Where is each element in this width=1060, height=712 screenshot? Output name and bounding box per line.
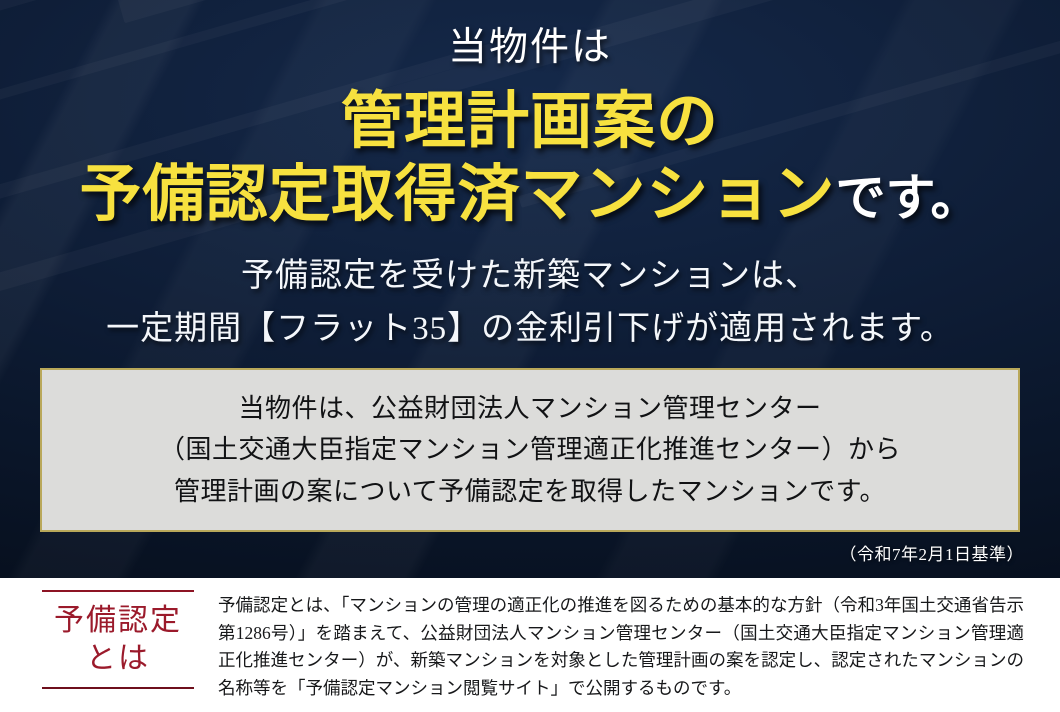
subcopy-line-2: 一定期間【フラット35】の金利引下げが適用されます。 [0,303,1060,356]
definition-fine-print: 予備認定とは、「マンションの管理の適正化の推進を図るための基本的な方針（令和3年… [218,592,1024,703]
certification-panel: 当物件は、公益財団法人マンション管理センター （国土交通大臣指定マンション管理適… [40,368,1020,532]
promo-poster: 当物件は 管理計画案の 予備認定取得済マンションです。 予備認定を受けた新築マン… [0,0,1060,712]
headline-line-2-main: 予備認定取得済マンション [79,161,835,229]
hero-subcopy: 予備認定を受けた新築マンションは、 一定期間【フラット35】の金利引下げが適用さ… [0,250,1060,357]
definition-tag-line-2: とは [42,640,194,678]
definition-tag-line-1: 予備認定 [42,602,194,640]
hero-eyebrow: 当物件は [0,27,1060,70]
definition-tag: 予備認定 とは [42,590,194,689]
panel-line-3: 管理計画の案について予備認定を取得したマンションです。 [174,471,886,512]
footer-section: 予備認定 とは 予備認定とは、「マンションの管理の適正化の推進を図るための基本的… [0,578,1060,712]
reference-date-note: （令和7年2月1日基準） [840,540,1025,565]
hero-headline: 管理計画案の 予備認定取得済マンションです。 [0,86,1060,232]
subcopy-line-1: 予備認定を受けた新築マンションは、 [0,250,1060,303]
headline-line-1: 管理計画案の [0,86,1060,159]
panel-line-2: （国土交通大臣指定マンション管理適正化推進センター）から [159,429,901,470]
headline-line-2: 予備認定取得済マンションです。 [0,159,1060,232]
headline-line-2-tail: です。 [836,170,981,226]
panel-line-1: 当物件は、公益財団法人マンション管理センター [238,388,821,429]
